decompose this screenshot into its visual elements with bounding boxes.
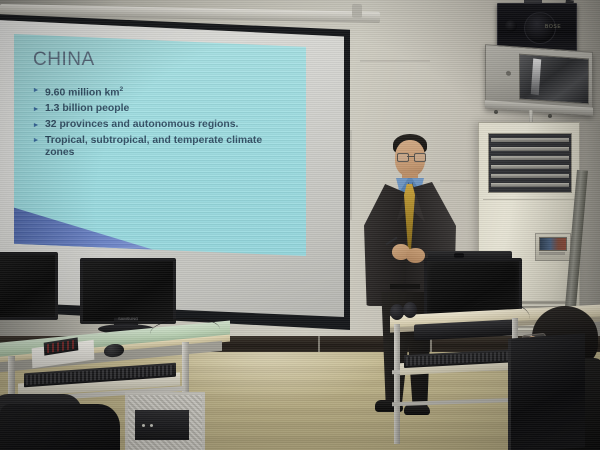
cabinet-latch-icon[interactable] xyxy=(506,71,511,76)
cabinet-glass-door[interactable] xyxy=(519,54,589,105)
cabinet-foot xyxy=(494,110,498,114)
slide-bullet-item: 1.3 billion people xyxy=(34,103,284,116)
classroom-photo: CHINA 9.60 million km2 1.3 billion peopl… xyxy=(0,0,600,450)
slide-bullet-text: 9.60 million km xyxy=(45,87,120,98)
slide-bullet-text: 32 provinces and autonomous regions. xyxy=(45,119,238,130)
slide-bullet-item: 9.60 million km2 xyxy=(34,84,284,100)
slide-bullet-item: Tropical, subtropical, and temperate cli… xyxy=(34,135,284,160)
air-conditioner-panel-label xyxy=(539,252,565,255)
wall-streak xyxy=(360,60,430,62)
projected-slide: CHINA 9.60 million km2 1.3 billion peopl… xyxy=(14,34,306,256)
headset-earcup-left xyxy=(390,304,404,320)
lcd-monitor-left-far xyxy=(0,252,58,320)
lcd-monitor-left-near: SAMSUNG xyxy=(80,258,176,324)
monitor-screen xyxy=(80,258,176,324)
speaker-brand-label: BOSE xyxy=(545,24,561,30)
air-conditioner-panel-seam xyxy=(483,199,575,200)
baseboard-seam xyxy=(318,336,320,352)
monitor-brand-label: SAMSUNG xyxy=(118,316,138,321)
slide-bullet-text: 1.3 billion people xyxy=(45,103,129,114)
slide-bullet-superscript: 2 xyxy=(120,86,124,93)
lcd-monitor-foreground xyxy=(508,333,585,450)
monitor-screen xyxy=(0,252,58,320)
remote-buttons xyxy=(47,340,75,353)
presenter-belt xyxy=(390,284,420,289)
pc-activity-led-icon xyxy=(150,424,153,427)
air-conditioner-display xyxy=(539,237,567,251)
slide-title: CHINA xyxy=(33,49,95,71)
slide-bullet-text: Tropical, subtropical, and temperate cli… xyxy=(45,135,262,159)
glasses-icon xyxy=(397,153,424,160)
foreground-chair-shadow xyxy=(0,404,120,450)
projection-screen-roller-cap xyxy=(352,4,362,18)
slide-bullet-list: 9.60 million km2 1.3 billion people 32 p… xyxy=(34,84,284,163)
headset-earcup-right xyxy=(403,302,417,318)
air-conditioner-grille xyxy=(488,133,572,193)
bose-speaker: BOSE xyxy=(497,3,577,52)
cabinet-foot xyxy=(548,114,552,118)
presenter-hand-right xyxy=(406,248,425,263)
pc-power-led-icon xyxy=(142,424,145,427)
slide-bullet-item: 32 provinces and autonomous regions. xyxy=(34,119,284,132)
front-desk-leg-front xyxy=(394,324,400,444)
headset[interactable] xyxy=(390,302,420,322)
speaker-tweeter-icon xyxy=(505,20,517,32)
